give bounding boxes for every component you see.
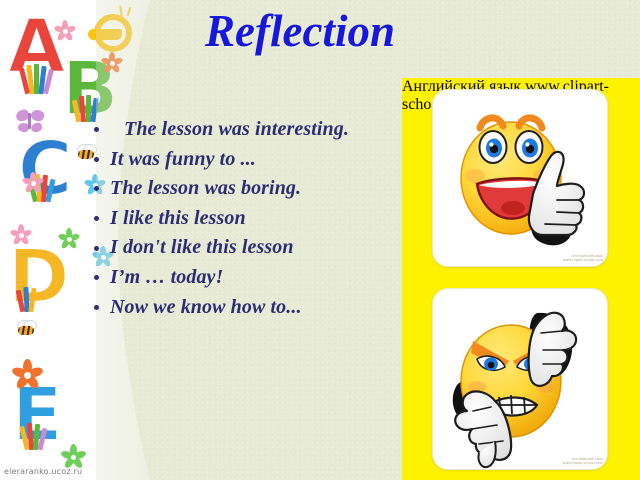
list-item: I like this lesson xyxy=(88,207,398,231)
flower-icon xyxy=(58,24,72,38)
flower-icon xyxy=(14,228,28,242)
slide-canvas: A B C D xyxy=(0,0,640,480)
page-title: Reflection xyxy=(150,8,450,55)
bullet-icon xyxy=(94,305,99,310)
butterfly-icon xyxy=(16,110,44,132)
reflection-bullet-list: The lesson was interesting. It was funny… xyxy=(88,118,398,325)
happy-smiley-icon xyxy=(433,90,607,266)
angry-smiley-icon xyxy=(433,289,607,469)
list-item-label: It was funny to ... xyxy=(110,148,256,170)
list-item-label: The lesson was boring. xyxy=(110,177,301,199)
pencils-icon xyxy=(22,64,56,94)
bullet-icon xyxy=(94,186,99,191)
list-item-label: I don't like this lesson xyxy=(110,236,294,258)
list-item: I don't like this lesson xyxy=(88,236,398,260)
bee-icon xyxy=(14,322,40,338)
list-item-label: The lesson was interesting. xyxy=(124,118,349,140)
list-item: It was funny to ... xyxy=(88,148,398,172)
bullet-icon xyxy=(94,127,99,132)
flower-icon xyxy=(64,448,82,466)
bullet-icon xyxy=(94,275,99,280)
flower-icon xyxy=(104,55,120,71)
list-item: Now we know how to... xyxy=(88,296,398,320)
bullet-icon xyxy=(94,246,99,251)
snail-icon xyxy=(88,14,132,42)
stock-watermark: Английский язык www.clipart-school.com xyxy=(563,457,603,466)
list-item-label: I like this lesson xyxy=(110,207,246,229)
pencils-icon xyxy=(22,420,56,450)
list-item-label: Now we know how to... xyxy=(110,296,302,318)
site-watermark: eleraranko.ucoz.ru xyxy=(4,467,82,476)
bullet-icon xyxy=(94,157,99,162)
flower-icon xyxy=(26,176,40,190)
list-item: I’m … today! xyxy=(88,266,398,290)
bullet-icon xyxy=(94,216,99,221)
stock-watermark: Английский язык www.clipart-school.com xyxy=(563,254,603,263)
angry-smiley-card: Английский язык www.clipart-school.com xyxy=(432,288,608,470)
list-item: The lesson was interesting. xyxy=(88,118,398,142)
list-item-label: I’m … today! xyxy=(110,266,223,288)
happy-smiley-card: Английский язык www.clipart-school.com xyxy=(432,89,608,267)
list-item: The lesson was boring. xyxy=(88,177,398,201)
pencils-icon xyxy=(18,282,52,312)
yellow-image-panel: Английский язык www.clipart-school.com А… xyxy=(402,78,640,480)
flower-icon xyxy=(16,364,38,386)
flower-icon xyxy=(62,232,76,246)
